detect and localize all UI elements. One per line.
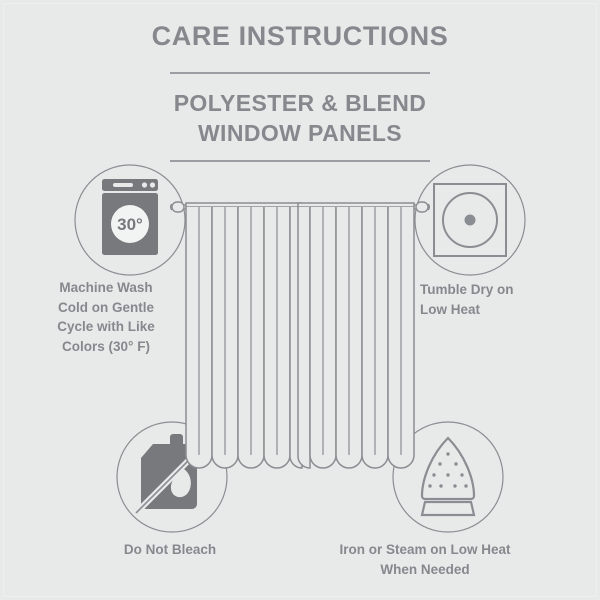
finial-left <box>171 202 184 212</box>
washing-machine-icon: 30° <box>102 179 158 255</box>
curtain-panel-right <box>298 203 414 468</box>
caption-tumble-dry: Tumble Dry on Low Heat <box>420 280 580 319</box>
page-subtitle: POLYESTER & BLEND WINDOW PANELS <box>0 74 600 149</box>
header: CARE INSTRUCTIONS POLYESTER & BLEND WIND… <box>0 0 600 162</box>
subtitle-line-2: WINDOW PANELS <box>198 120 402 146</box>
finial-right <box>416 202 429 212</box>
caption-line: Tumble Dry on <box>420 282 514 297</box>
caption-line: Cold on Gentle <box>58 300 154 315</box>
caption-iron: Iron or Steam on Low Heat When Needed <box>312 540 538 579</box>
iron-icon <box>422 438 474 515</box>
tumble-dry-icon <box>434 184 506 256</box>
caption-line: When Needed <box>380 562 469 577</box>
wash-temperature-badge: 30° <box>117 215 143 234</box>
caption-machine-wash: Machine Wash Cold on Gentle Cycle with L… <box>30 278 182 356</box>
subtitle-line-1: POLYESTER & BLEND <box>174 90 427 116</box>
page-title: CARE INSTRUCTIONS <box>0 0 600 52</box>
caption-line: Do Not Bleach <box>124 542 216 557</box>
caption-do-not-bleach: Do Not Bleach <box>90 540 250 560</box>
caption-line: Colors (30° F) <box>62 339 150 354</box>
curtain-panel-left <box>186 203 302 468</box>
caption-line: Low Heat <box>420 302 480 317</box>
caption-line: Machine Wash <box>59 280 152 295</box>
care-instructions-card: CARE INSTRUCTIONS POLYESTER & BLEND WIND… <box>0 0 600 600</box>
caption-line: Cycle with Like <box>57 319 155 334</box>
caption-line: Iron or Steam on Low Heat <box>339 542 510 557</box>
